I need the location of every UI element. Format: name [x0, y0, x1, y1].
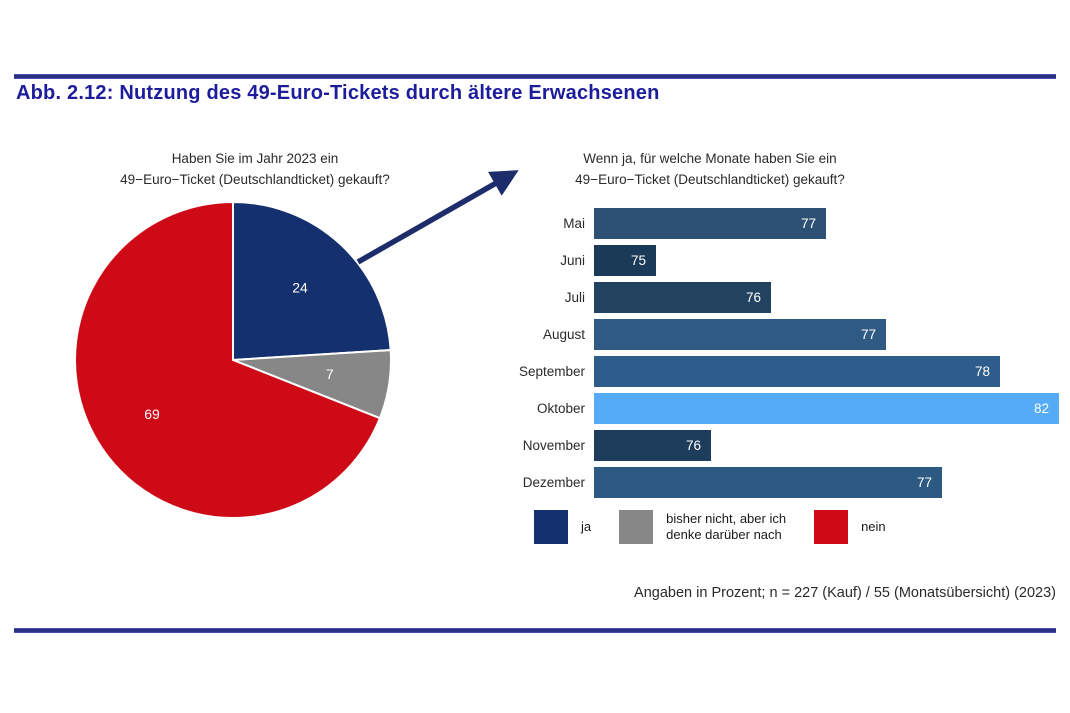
bar-track: 76: [594, 279, 1060, 316]
bar-rect: 76: [594, 282, 771, 313]
bar-chart-panel: Wenn ja, für welche Monate haben Sie ein…: [500, 140, 1060, 540]
legend-item: ja: [534, 510, 591, 544]
bar-chart-row: September78: [500, 353, 1060, 390]
figure-footnote: Angaben in Prozent; n = 227 (Kauf) / 55 …: [634, 585, 1056, 601]
bar-chart-row: November76: [500, 427, 1060, 464]
bar-category-label: Juni: [500, 253, 594, 268]
bar-chart-caption: Wenn ja, für welche Monate haben Sie ein…: [500, 148, 920, 190]
bar-track: 77: [594, 316, 1060, 353]
bar-chart-row: Juni75: [500, 242, 1060, 279]
pie-chart-graphic: 24769: [73, 200, 393, 520]
bar-value-label: 76: [746, 290, 771, 305]
bar-category-label: September: [500, 364, 594, 379]
bar-track: 77: [594, 205, 1060, 242]
bar-chart-row: Mai77: [500, 205, 1060, 242]
bar-category-label: November: [500, 438, 594, 453]
pie-chart-panel: Haben Sie im Jahr 2023 ein 49−Euro−Ticke…: [55, 140, 455, 520]
bottom-divider-rule: [14, 628, 1056, 633]
pie-svg: 24769: [73, 200, 393, 520]
bar-track: 75: [594, 242, 1060, 279]
bar-caption-line-1: Wenn ja, für welche Monate haben Sie ein: [500, 148, 920, 169]
bar-value-label: 82: [1034, 401, 1059, 416]
pie-slice: [233, 202, 391, 360]
bar-rect: 77: [594, 208, 826, 239]
bar-chart-row: Juli76: [500, 279, 1060, 316]
bar-category-label: Dezember: [500, 475, 594, 490]
bar-category-label: Juli: [500, 290, 594, 305]
top-divider-rule: [14, 74, 1056, 79]
figure-container: Abb. 2.12: Nutzung des 49-Euro-Tickets d…: [0, 0, 1070, 713]
pie-caption-line-2: 49−Euro−Ticket (Deutschlandticket) gekau…: [55, 169, 455, 190]
bar-rect: 78: [594, 356, 1000, 387]
bar-track: 82: [594, 390, 1060, 427]
legend-label: ja: [581, 519, 591, 535]
bar-chart-row: Oktober82: [500, 390, 1060, 427]
pie-slice-value-label: 24: [292, 279, 308, 295]
legend-swatch: [534, 510, 568, 544]
legend-item: bisher nicht, aber ich denke darüber nac…: [619, 510, 786, 544]
chart-legend: jabisher nicht, aber ich denke darüber n…: [534, 510, 914, 544]
bar-value-label: 77: [861, 327, 886, 342]
bar-value-label: 75: [631, 253, 656, 268]
figure-title: Abb. 2.12: Nutzung des 49-Euro-Tickets d…: [16, 82, 660, 105]
pie-slice-value-label: 69: [144, 406, 160, 422]
bar-value-label: 77: [917, 475, 942, 490]
bar-track: 78: [594, 353, 1060, 390]
bar-value-label: 77: [801, 216, 826, 231]
pie-chart-caption: Haben Sie im Jahr 2023 ein 49−Euro−Ticke…: [55, 148, 455, 190]
bar-category-label: Mai: [500, 216, 594, 231]
pie-slice-value-label: 7: [326, 366, 334, 382]
bar-chart-row: August77: [500, 316, 1060, 353]
bar-category-label: Oktober: [500, 401, 594, 416]
bar-caption-line-2: 49−Euro−Ticket (Deutschlandticket) gekau…: [500, 169, 920, 190]
legend-item: nein: [814, 510, 886, 544]
bar-track: 77: [594, 464, 1060, 501]
bar-track: 76: [594, 427, 1060, 464]
bar-value-label: 76: [686, 438, 711, 453]
bar-rect: 77: [594, 467, 942, 498]
legend-swatch: [814, 510, 848, 544]
bar-value-label: 78: [975, 364, 1000, 379]
pie-caption-line-1: Haben Sie im Jahr 2023 ein: [55, 148, 455, 169]
legend-swatch: [619, 510, 653, 544]
bar-rect: 76: [594, 430, 711, 461]
bar-rect: 82: [594, 393, 1059, 424]
legend-label: nein: [861, 519, 886, 535]
legend-label: bisher nicht, aber ich denke darüber nac…: [666, 511, 786, 543]
bar-chart-rows: Mai77Juni75Juli76August77September78Okto…: [500, 205, 1060, 501]
bar-rect: 75: [594, 245, 656, 276]
bar-category-label: August: [500, 327, 594, 342]
bar-rect: 77: [594, 319, 886, 350]
bar-chart-row: Dezember77: [500, 464, 1060, 501]
